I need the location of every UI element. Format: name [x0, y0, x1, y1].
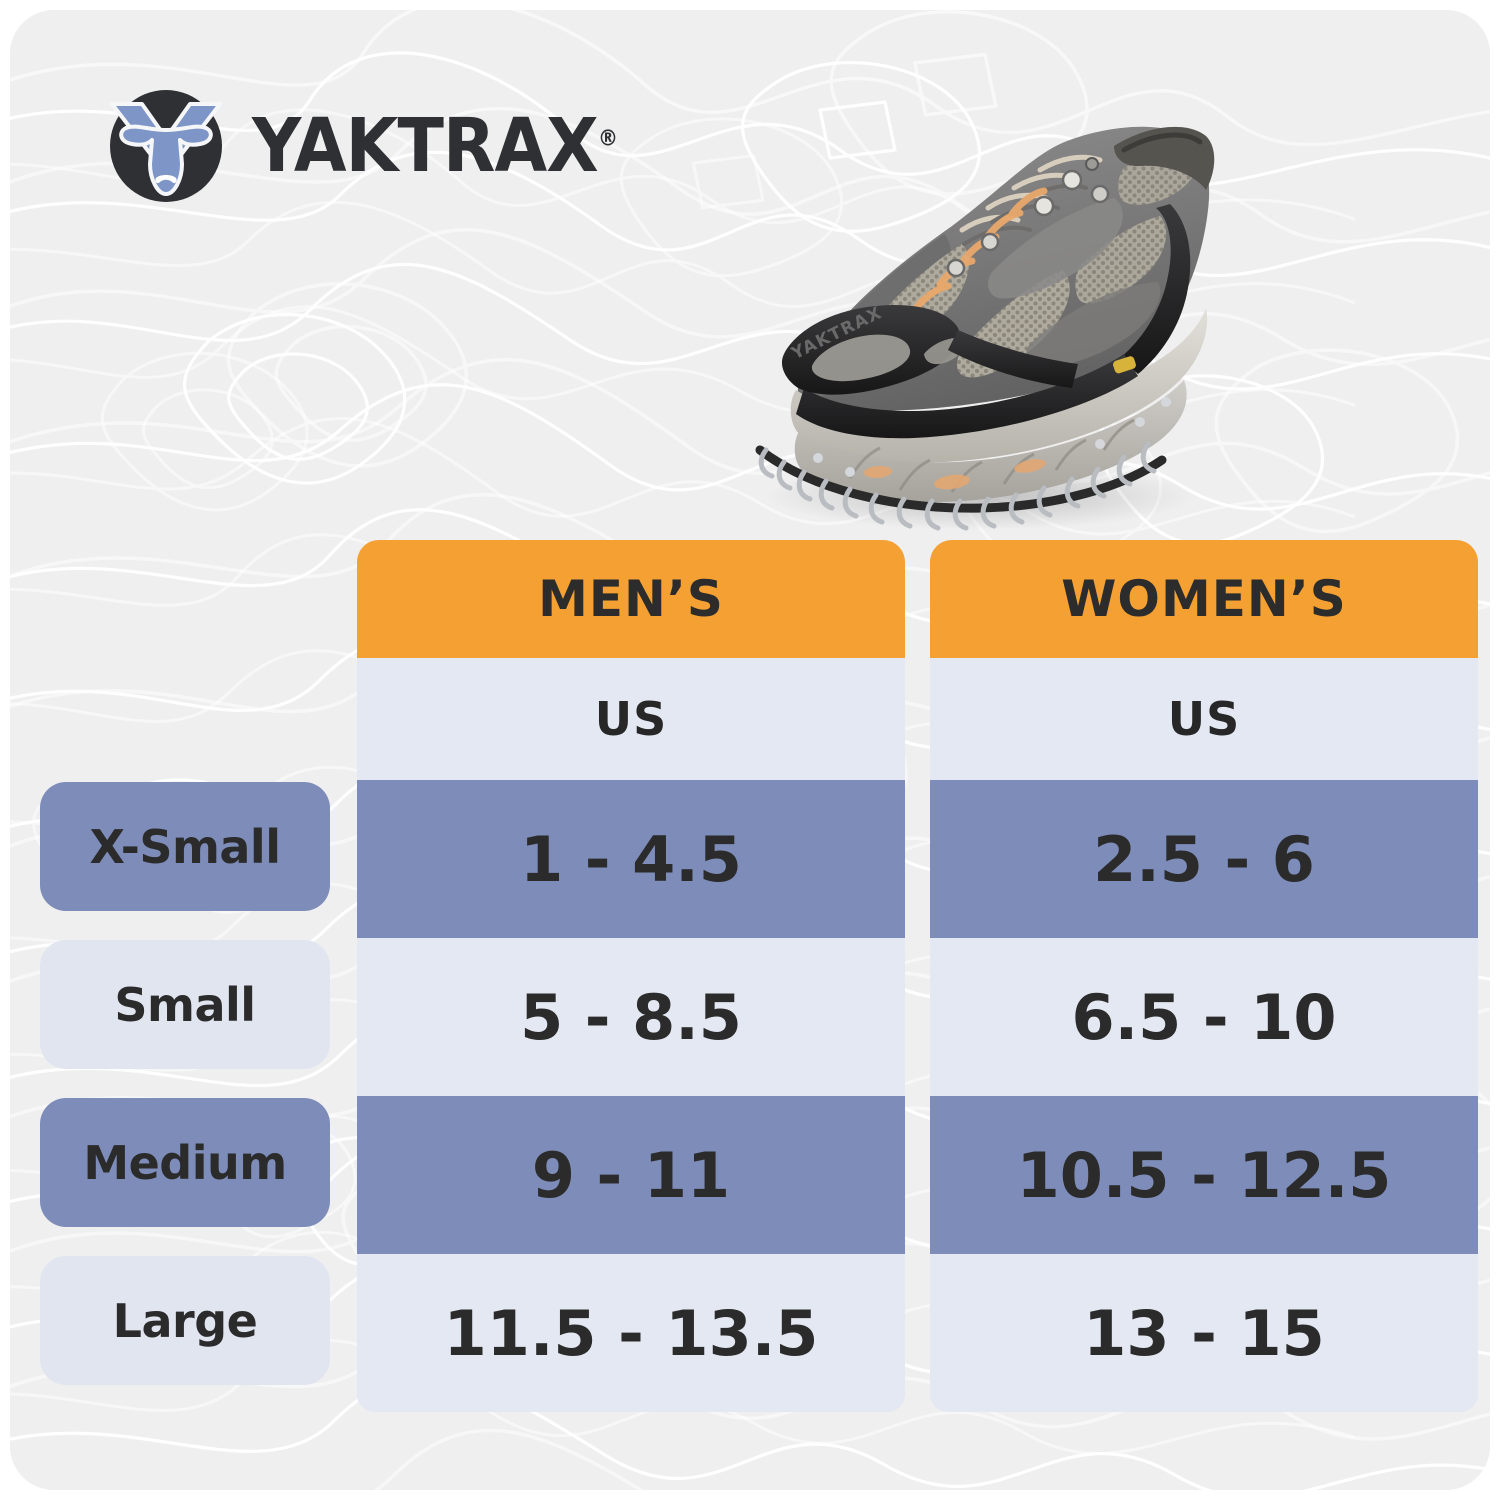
- mens-value-small: 5 - 8.5: [357, 938, 905, 1096]
- mens-column-header: MEN’S: [357, 540, 905, 658]
- size-label-small: Small: [40, 940, 330, 1069]
- sizing-chart-card: YAKTRAX®: [10, 10, 1490, 1490]
- size-label-column: X-Small Small Medium Large: [40, 782, 330, 1414]
- womens-value-medium: 10.5 - 12.5: [930, 1096, 1478, 1254]
- brand-logo: YAKTRAX®: [102, 82, 650, 210]
- registered-trademark-icon: ®: [598, 126, 618, 151]
- size-label-x-small: X-Small: [40, 782, 330, 911]
- mens-size-column: MEN’S US 1 - 4.5 5 - 8.5 9 - 11 11.5 - 1…: [357, 540, 905, 1412]
- womens-size-column: WOMEN’S US 2.5 - 6 6.5 - 10 10.5 - 12.5 …: [930, 540, 1478, 1412]
- mens-value-medium: 9 - 11: [357, 1096, 905, 1254]
- brand-name: YAKTRAX: [252, 103, 598, 189]
- womens-column-header: WOMEN’S: [930, 540, 1478, 658]
- mens-value-x-small: 1 - 4.5: [357, 780, 905, 938]
- yak-head-logo-icon: [102, 82, 230, 210]
- size-label-medium: Medium: [40, 1098, 330, 1227]
- mens-value-large: 11.5 - 13.5: [357, 1254, 905, 1412]
- size-label-large: Large: [40, 1256, 330, 1385]
- womens-unit-label: US: [930, 658, 1478, 780]
- womens-value-large: 13 - 15: [930, 1254, 1478, 1412]
- brand-wordmark: YAKTRAX®: [252, 109, 618, 183]
- hiking-shoe-with-traction-device-photo: YAKTRAX: [700, 58, 1240, 538]
- womens-value-x-small: 2.5 - 6: [930, 780, 1478, 938]
- womens-value-small: 6.5 - 10: [930, 938, 1478, 1096]
- mens-unit-label: US: [357, 658, 905, 780]
